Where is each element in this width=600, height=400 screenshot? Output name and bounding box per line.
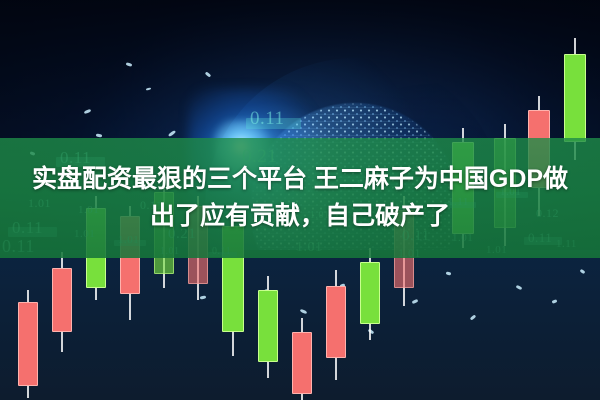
candlestick-0 (18, 290, 38, 398)
candle-body (258, 290, 278, 362)
candle-body (360, 262, 380, 324)
candlestick-10 (360, 248, 380, 340)
headline-line-2: 出了应有贡献，自己破产了 (20, 198, 580, 235)
stock-banner-image: 0.111.011.010.111.010.111.010.210.110.11… (0, 0, 600, 400)
candlestick-9 (326, 270, 346, 380)
price-ticker-9: 0.11 (250, 108, 285, 130)
candle-body (564, 54, 586, 142)
headline-banner: 实盘配资最狠的三个平台 王二麻子为中国GDP做 出了应有贡献，自己破产了 (0, 138, 600, 258)
candle-body (326, 286, 346, 358)
candlestick-7 (258, 276, 278, 378)
page-title: 实盘配资最狠的三个平台 王二麻子为中国GDP做 出了应有贡献，自己破产了 (20, 161, 580, 235)
candlestick-1 (52, 252, 72, 352)
candlestick-8 (292, 318, 312, 400)
candle-body (292, 332, 312, 394)
headline-line-1: 实盘配资最狠的三个平台 王二麻子为中国GDP做 (32, 165, 568, 193)
candle-body (52, 268, 72, 332)
candle-body (18, 302, 38, 386)
